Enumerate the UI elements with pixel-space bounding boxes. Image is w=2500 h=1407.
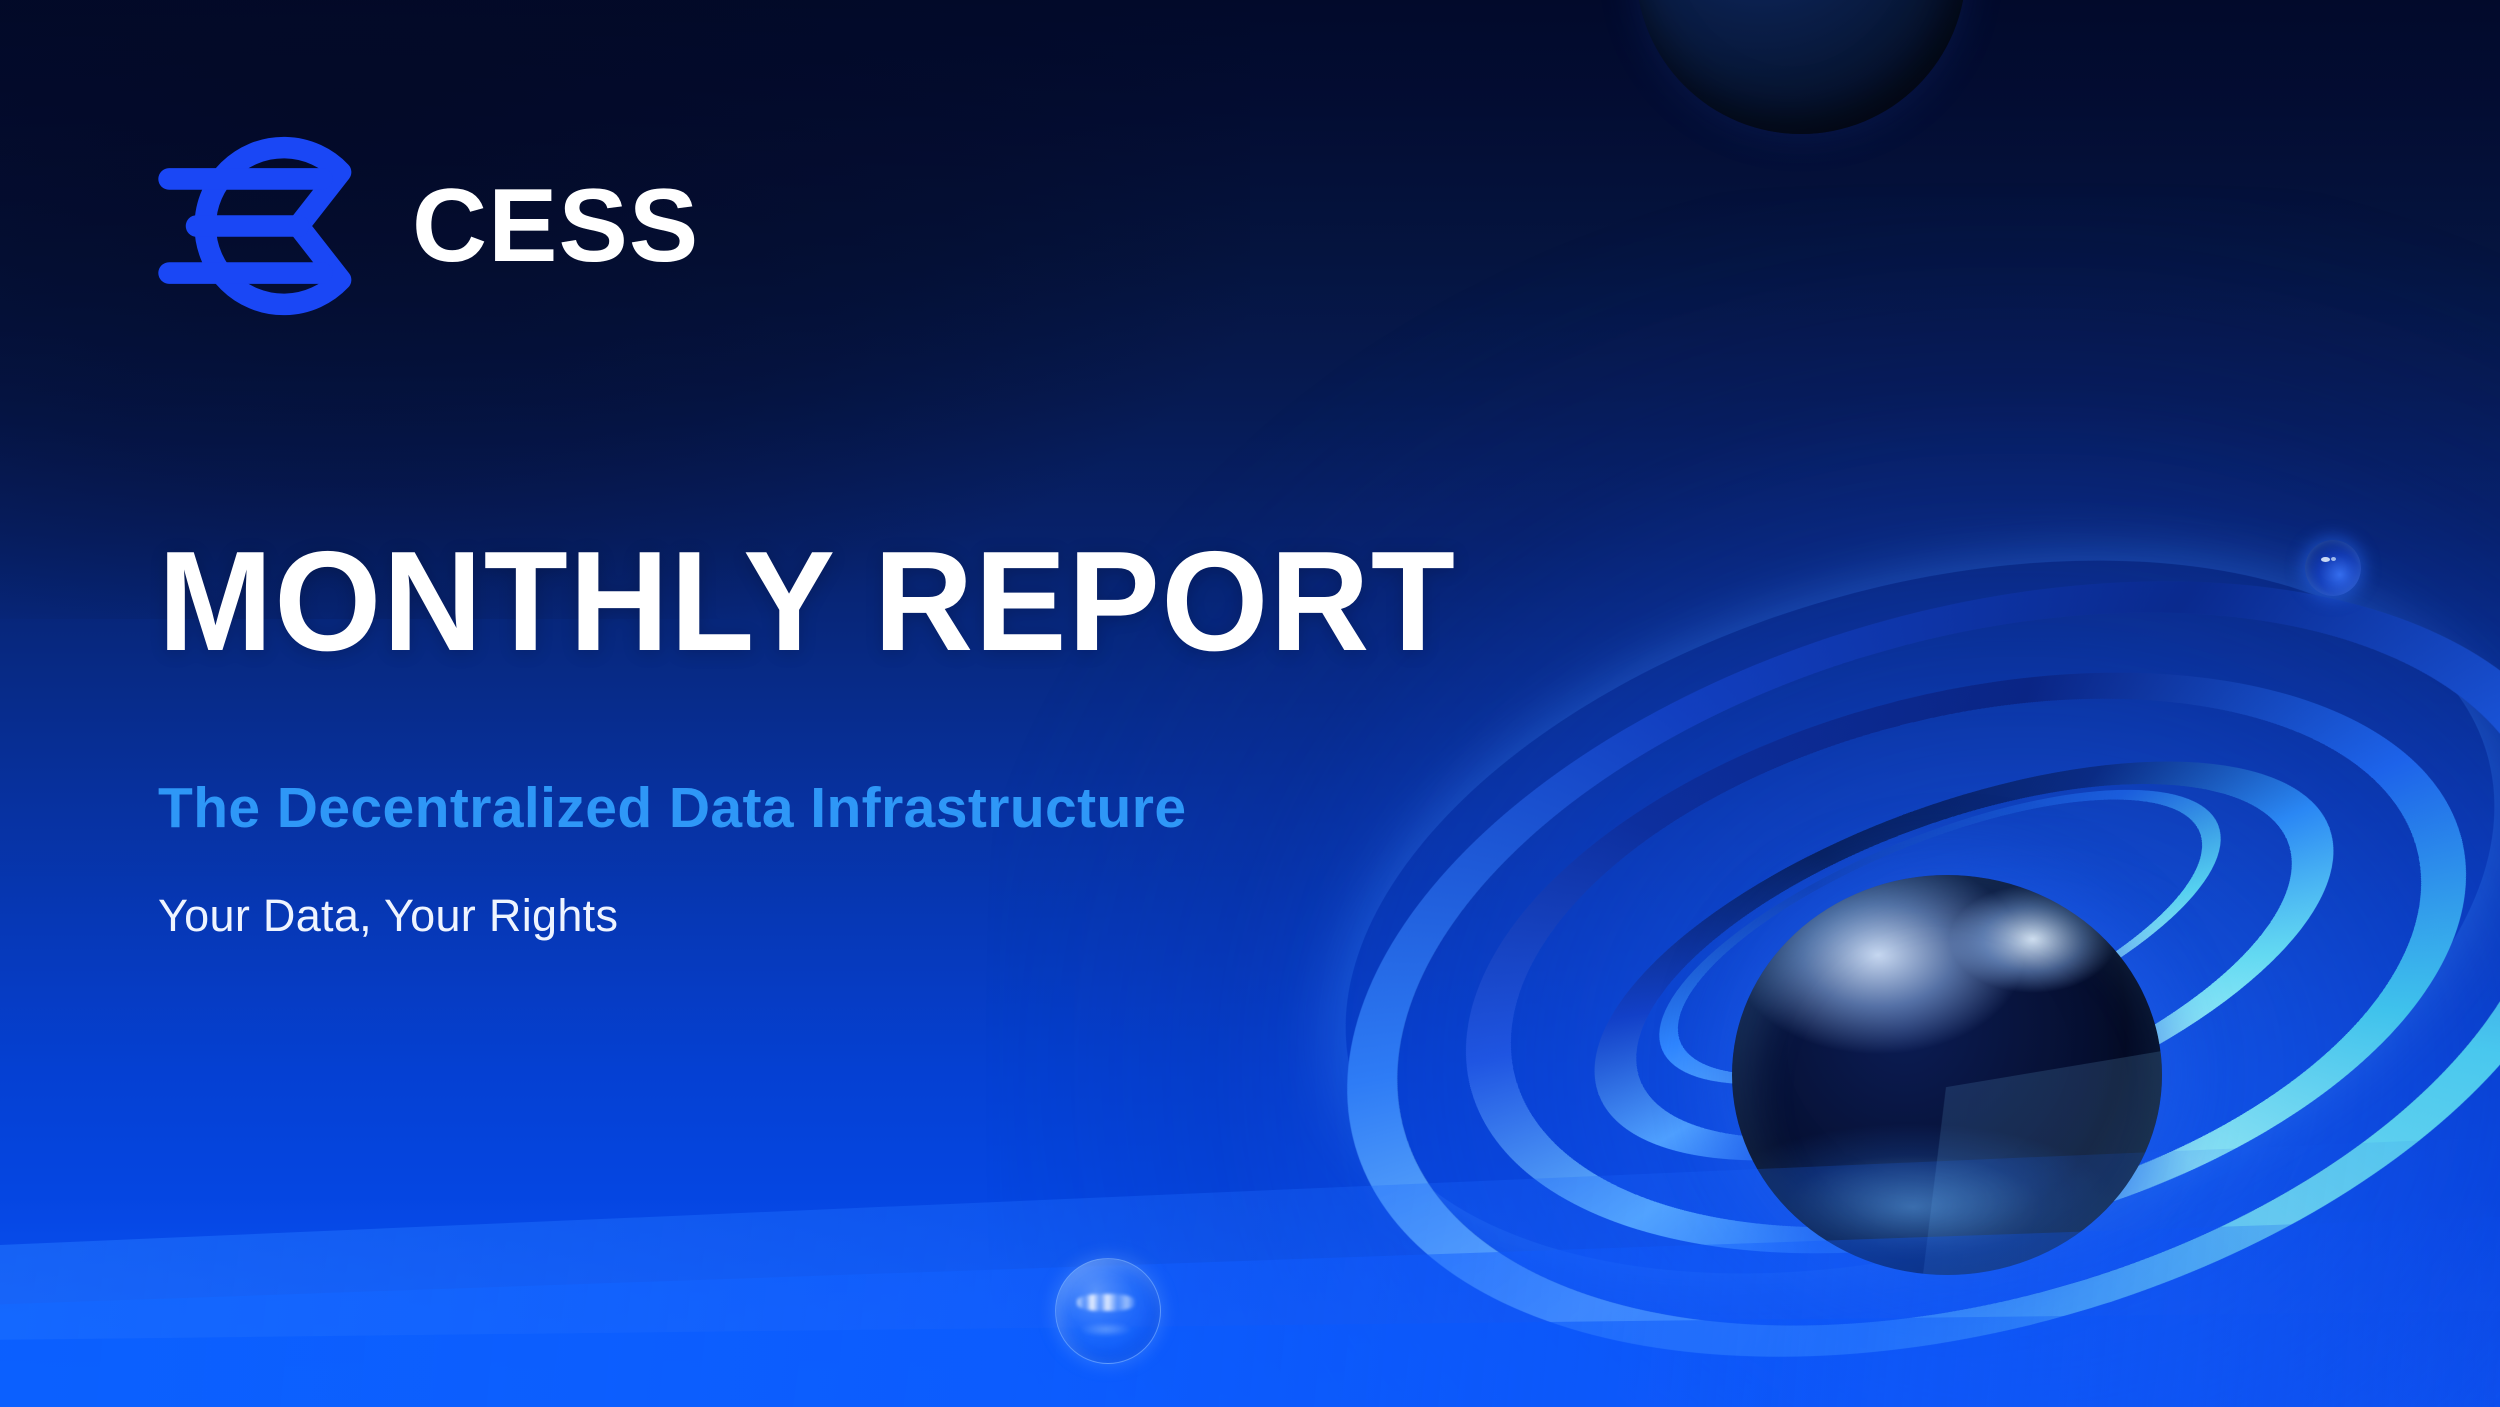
page-subtitle: The Decentralized Data Infrastructure <box>158 775 1186 841</box>
report-cover-slide: CESS MONTHLY REPORT The Decentralized Da… <box>0 0 2500 1407</box>
cess-logo-mark-icon <box>152 128 390 324</box>
page-title: MONTHLY REPORT <box>158 528 1456 676</box>
brand-wordmark: CESS <box>412 174 699 278</box>
cover-content: CESS MONTHLY REPORT The Decentralized Da… <box>0 0 2500 1407</box>
brand-logo: CESS <box>152 128 699 324</box>
page-tagline: Your Data, Your Rights <box>158 890 618 942</box>
